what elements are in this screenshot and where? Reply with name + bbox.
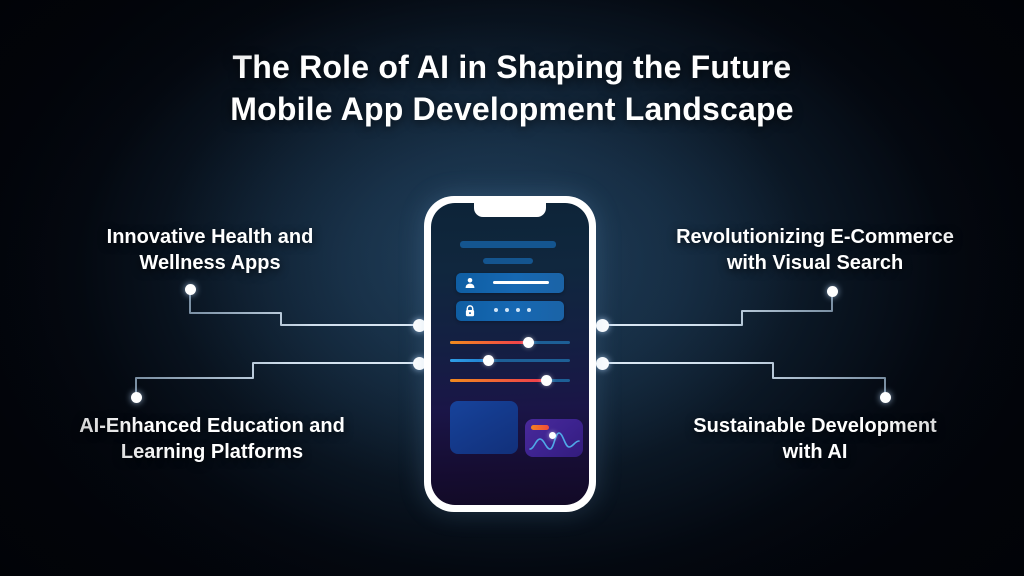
background-vignette	[0, 0, 1024, 576]
infographic-slide: The Role of AI in Shaping the Future Mob…	[0, 0, 1024, 576]
